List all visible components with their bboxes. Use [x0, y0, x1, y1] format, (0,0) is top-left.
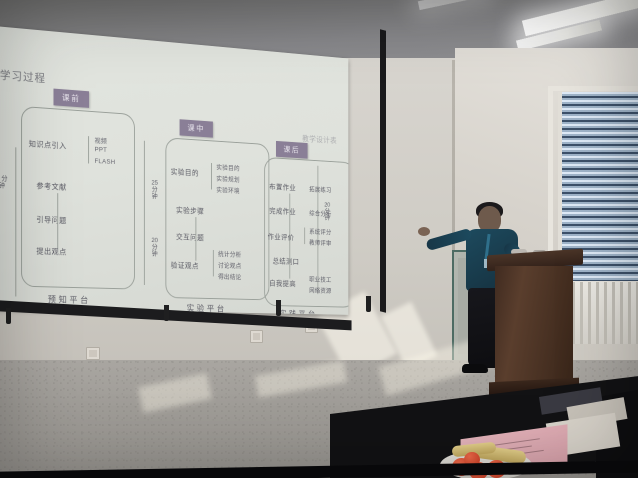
fluorescent-light-far: [418, 0, 488, 10]
sub-3-1-1: 拓展练习: [309, 184, 331, 194]
timer-left-cut: 5 分 钟: [0, 176, 8, 190]
node-3-3: 作业评价: [268, 231, 295, 242]
badge-column-3: 课后: [276, 141, 308, 159]
screen-weight-tab-2: [164, 305, 169, 321]
sub-2-4-3: 得出结论: [218, 271, 241, 281]
sub-3-5-2: 网络资源: [309, 285, 331, 295]
wall-outlet-1: [86, 347, 100, 360]
sub-2-1-3: 实验环境: [216, 184, 239, 195]
node-2-3: 交互问题: [176, 231, 204, 243]
node-1-3: 引导问题: [36, 214, 66, 226]
node-3-2: 完成作业: [269, 206, 296, 217]
badge-column-1: 课前: [53, 89, 89, 108]
sub-2-1-2: 实验规划: [216, 173, 239, 184]
lecture-room-photo: 学习过程 教学设计表 5 分 钟 课前 知识点引入 视频 PPT FLASH 参…: [0, 0, 638, 478]
node-3-4: 总结测口: [273, 256, 300, 267]
screen-weight-tab-1: [6, 308, 11, 324]
node-2-2: 实验步骤: [176, 205, 204, 217]
projection-screen: 学习过程 教学设计表 5 分 钟 课前 知识点引入 视频 PPT FLASH 参…: [0, 26, 348, 315]
sub-1-1-1: 视频: [95, 135, 108, 146]
sub-2-4-2: 讨论观点: [218, 260, 241, 270]
presenter-left-hand: [418, 227, 430, 236]
badge-column-2: 课中: [180, 119, 213, 137]
sub-1-1-2: PPT: [95, 146, 107, 154]
sub-3-3-1: 系统评分: [309, 226, 331, 236]
timer-mid-top: 25 分钟: [149, 180, 160, 200]
sub-3-3-2: 教师评审: [309, 237, 331, 247]
column-box-1: [21, 106, 135, 290]
wall-outlet-2: [250, 330, 263, 343]
node-1-4: 提出观点: [36, 246, 66, 258]
slide-title: 学习过程: [0, 66, 46, 86]
sub-1-1-3: FLASH: [95, 158, 116, 166]
podium: [489, 252, 581, 392]
node-3-1: 布置作业: [269, 181, 296, 193]
podium-body: [495, 266, 573, 386]
sub-2-4-1: 统计分析: [218, 248, 241, 258]
node-3-5: 自我提高: [269, 278, 296, 289]
node-2-4: 验证观点: [171, 260, 199, 271]
sub-3-5-1: 职业技工: [309, 274, 331, 284]
presenter-shoe: [462, 364, 488, 373]
node-1-1: 知识点引入: [29, 138, 67, 151]
node-2-1: 实验目的: [171, 166, 199, 178]
projected-slide: 学习过程 教学设计表 5 分 钟 课前 知识点引入 视频 PPT FLASH 参…: [0, 26, 348, 315]
sub-3-2-1: 综合分析: [309, 208, 331, 218]
screen-weight-tab-4: [366, 296, 371, 312]
node-1-2: 参考文献: [36, 180, 66, 192]
sub-2-1-1: 实验目的: [216, 161, 239, 172]
screen-weight-tab-3: [276, 300, 281, 316]
screen-right-edge: [380, 29, 386, 312]
timer-mid-bottom: 20 分钟: [149, 238, 160, 258]
